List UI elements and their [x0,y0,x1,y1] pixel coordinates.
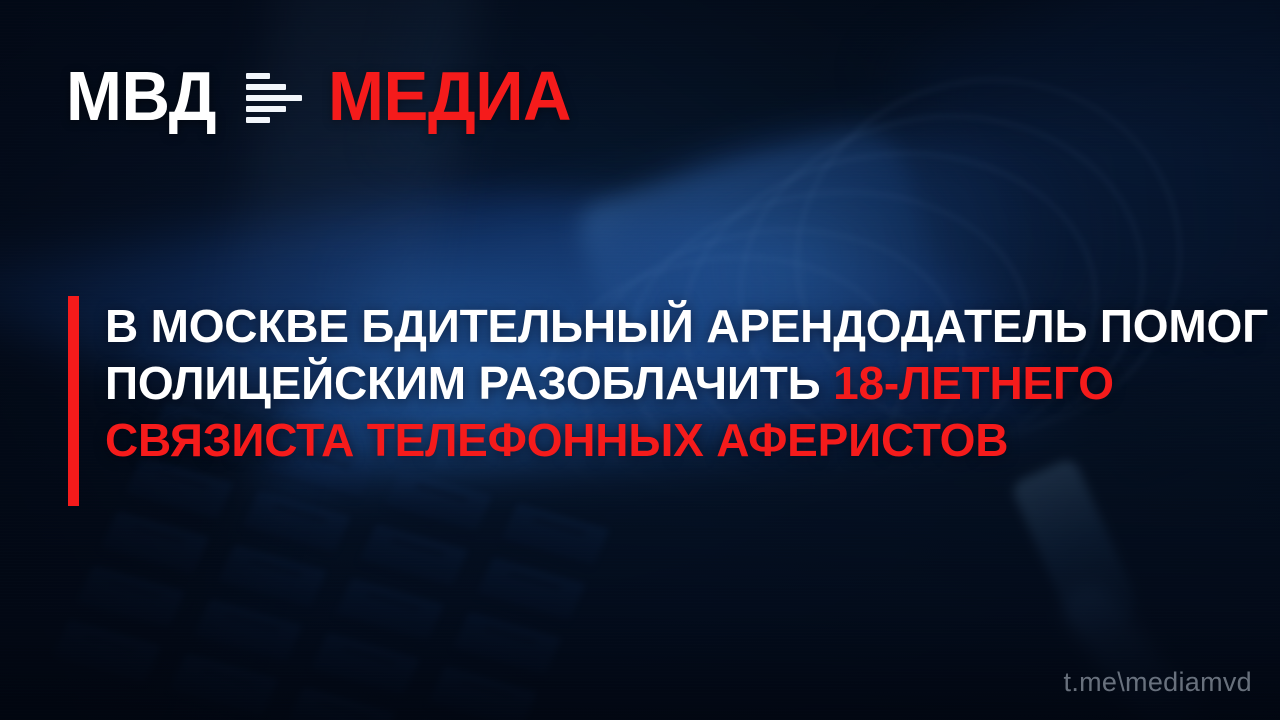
brand-logo[interactable]: МВД МЕДИА [66,60,582,132]
page-title: В МОСКВЕ БДИТЕЛЬНЫЙ АРЕНДОДАТЕЛЬ ПОМОГ П… [105,296,1268,506]
headline-line-3-highlight: СВЯЗИСТА ТЕЛЕФОННЫХ АФЕРИСТОВ [105,414,1008,466]
headline-line-3: СВЯЗИСТА ТЕЛЕФОННЫХ АФЕРИСТОВ [105,412,1268,469]
headline-line-2: ПОЛИЦЕЙСКИМ РАЗОБЛАЧИТЬ 18-ЛЕТНЕГО [105,355,1268,412]
headline-line-1: В МОСКВЕ БДИТЕЛЬНЫЙ АРЕНДОДАТЕЛЬ ПОМОГ [105,298,1268,355]
headline-block: В МОСКВЕ БДИТЕЛЬНЫЙ АРЕНДОДАТЕЛЬ ПОМОГ П… [68,296,1268,506]
brand-logo-media-text: МЕДИА [328,61,571,131]
headline-line-2-white: ПОЛИЦЕЙСКИМ РАЗОБЛАЧИТЬ [105,357,833,409]
headline-accent-bar [68,296,79,506]
channel-watermark: t.me\mediamvd [1064,667,1252,698]
signal-bars-icon [246,70,302,123]
brand-logo-mvd-text: МВД [66,61,216,131]
news-card: МВД МЕДИА В МОСКВЕ БДИТЕЛЬНЫЙ АРЕНДОДАТЕ… [0,0,1280,720]
headline-line-1-white: В МОСКВЕ БДИТЕЛЬНЫЙ АРЕНДОДАТЕЛЬ ПОМОГ [105,300,1268,352]
headline-line-2-highlight: 18-ЛЕТНЕГО [833,357,1114,409]
